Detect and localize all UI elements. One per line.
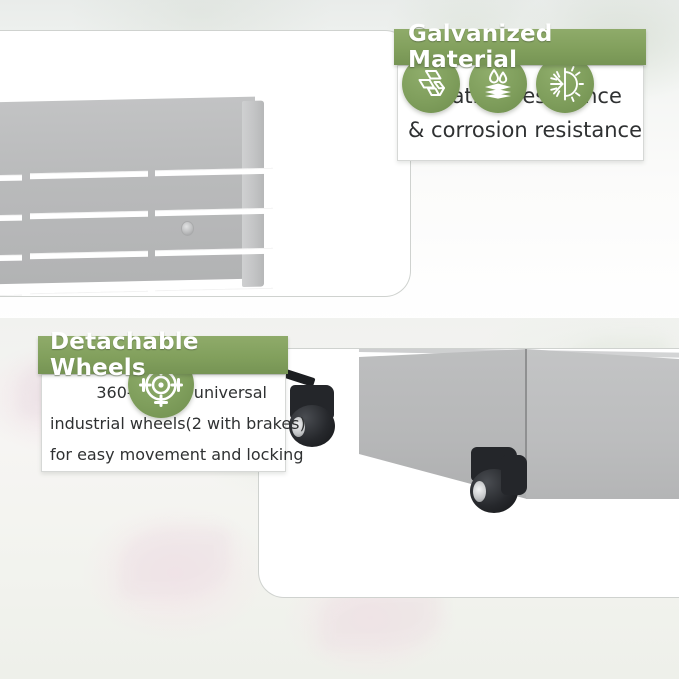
vent-slot <box>155 288 273 297</box>
caster-swivel-housing <box>501 455 527 495</box>
cabinet-base <box>259 349 679 535</box>
cabinet-right-door <box>526 349 679 499</box>
caster-wheel <box>281 371 351 447</box>
cabinet-door-panel <box>0 99 290 289</box>
galvanized-line-2: & corrosion resistance <box>408 113 633 147</box>
galvanized-banner: Galvanized Material <box>394 29 646 65</box>
caster-wheel <box>467 447 539 525</box>
feature-callout-galvanized-material: Galvanized Material Weather resistance &… <box>394 55 646 161</box>
caster-wheel-hub <box>473 481 486 502</box>
galvanized-title: Galvanized Material <box>408 21 646 73</box>
vent-slot <box>30 291 148 297</box>
slatted-cabinet-door-photo <box>0 30 411 297</box>
vent-slot <box>0 295 22 297</box>
wheels-title: Detachable Wheels <box>50 329 288 381</box>
blurred-foliage <box>120 528 230 598</box>
wheels-banner: Detachable Wheels <box>38 336 288 374</box>
feature-callout-detachable-wheels: Detachable Wheels 360-degree universal i… <box>38 352 288 472</box>
door-lock-icon <box>181 221 194 236</box>
wheels-line-3: for easy movement and locking <box>50 439 277 470</box>
door-right-edge <box>242 101 264 287</box>
cabinet-casters-photo <box>258 348 679 598</box>
infographic-canvas: Galvanized Material Weather resistance &… <box>0 0 679 679</box>
